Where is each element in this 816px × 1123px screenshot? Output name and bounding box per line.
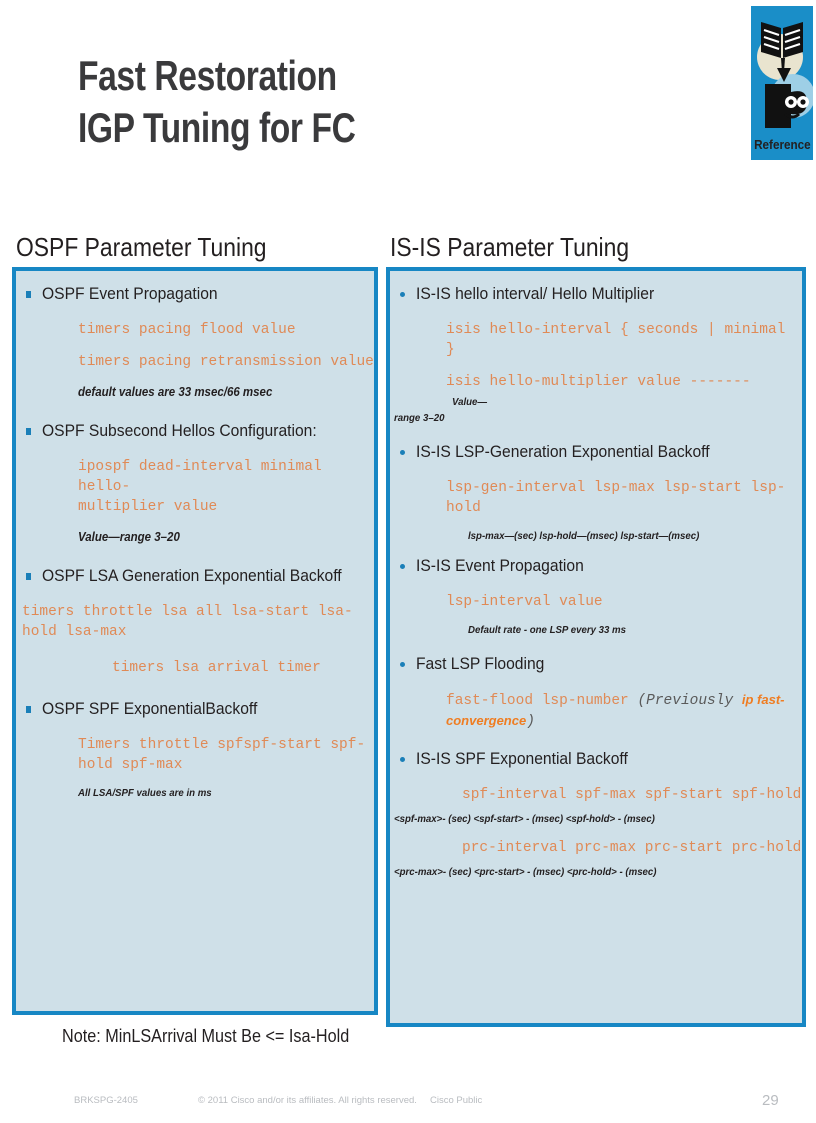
dot-bullet-icon — [400, 292, 405, 297]
title-line-2: IGP Tuning for FC — [78, 102, 574, 154]
code-line: hold lsa-max — [22, 622, 374, 642]
code-line: timers pacing retransmission value — [78, 352, 374, 372]
list-item: OSPF LSA Generation Exponential Backoff — [26, 565, 374, 586]
code-text: fast-flood lsp-number — [446, 693, 637, 709]
code-line: hold — [446, 498, 802, 518]
dot-bullet-icon — [400, 564, 405, 569]
code-line: lsp-gen-interval lsp-max lsp-start lsp- — [446, 478, 802, 498]
code-line: multiplier value — [78, 497, 374, 517]
list-item: OSPF Event Propagation — [26, 283, 374, 304]
code-line: lsp-interval value — [446, 592, 802, 612]
closing-paren: ) — [526, 714, 535, 730]
dot-bullet-icon — [400, 757, 405, 762]
session-code: BRKSPG-2405 — [74, 1095, 138, 1106]
annotation-note: Value—range 3–20 — [78, 529, 350, 545]
section-title: IS-IS SPF Exponential Backoff — [416, 748, 628, 769]
section-title: OSPF Subsecond Hellos Configuration: — [42, 420, 317, 441]
annotation-note: range 3–20 — [394, 412, 769, 425]
list-item: OSPF SPF ExponentialBackoff — [26, 698, 374, 719]
ospf-column-heading: OSPF Parameter Tuning — [16, 232, 267, 263]
section-title: OSPF LSA Generation Exponential Backoff — [42, 565, 342, 586]
code-line: timers pacing flood value — [78, 320, 374, 340]
code-line-fast-flood: fast-flood lsp-number (Previously ip fas… — [446, 690, 802, 732]
annotation-note: lsp-max—(sec) lsp-hold—(msec) lsp-start—… — [468, 530, 775, 543]
section-title: IS-IS hello interval/ Hello Multiplier — [416, 283, 654, 304]
list-item: IS-IS SPF Exponential Backoff — [400, 748, 802, 769]
title-line-1: Fast Restoration — [78, 50, 574, 102]
code-line-with-inline-note: isis hello-multiplier value ------- Valu… — [446, 372, 802, 412]
inline-annotation: Value— — [452, 396, 487, 409]
copyright-text: © 2011 Cisco and/or its affiliates. All … — [198, 1095, 417, 1106]
code-line: timers lsa arrival timer — [112, 658, 374, 678]
square-bullet-icon — [26, 573, 31, 580]
reference-badge: Reference — [749, 4, 815, 162]
classification-label: Cisco Public — [430, 1095, 482, 1106]
section-title: OSPF Event Propagation — [42, 283, 218, 304]
annotation-note: All LSA/SPF values are in ms — [78, 787, 350, 800]
slide-footer: BRKSPG-2405 © 2011 Cisco and/or its affi… — [0, 1092, 816, 1114]
list-item: IS-IS Event Propagation — [400, 555, 802, 576]
previously-text: (Previously — [637, 693, 741, 709]
list-item: IS-IS LSP-Generation Exponential Backoff — [400, 441, 802, 462]
isis-parameter-box: IS-IS hello interval/ Hello Multiplier i… — [386, 267, 806, 1027]
list-item: OSPF Subsecond Hellos Configuration: — [26, 420, 374, 441]
min-lsarrival-note: Note: MinLSArrival Must Be <= Isa-Hold — [62, 1026, 349, 1047]
code-line: hold spf-max — [78, 755, 374, 775]
page-title: Fast Restoration IGP Tuning for FC — [78, 50, 698, 154]
annotation-note: default values are 33 msec/66 msec — [78, 384, 350, 400]
page-number: 29 — [762, 1092, 779, 1109]
section-title: Fast LSP Flooding — [416, 653, 544, 674]
reference-badge-label: Reference — [754, 137, 810, 152]
list-item: IS-IS hello interval/ Hello Multiplier — [400, 283, 802, 304]
annotation-note-prc: <prc-max>- (sec) <prc-start> - (msec) <p… — [394, 866, 769, 879]
annotation-note-spf: <spf-max>- (sec) <spf-start> - (msec) <s… — [394, 813, 769, 826]
dot-bullet-icon — [400, 662, 405, 667]
section-title: IS-IS LSP-Generation Exponential Backoff — [416, 441, 710, 462]
list-item: Fast LSP Flooding — [400, 653, 802, 674]
section-title: OSPF SPF ExponentialBackoff — [42, 698, 257, 719]
code-line: Timers throttle spfspf-start spf- — [78, 735, 374, 755]
isis-column-heading: IS-IS Parameter Tuning — [390, 232, 629, 263]
section-title: IS-IS Event Propagation — [416, 555, 584, 576]
code-line: prc-interval prc-max prc-start prc-hold — [462, 838, 802, 858]
ospf-parameter-box: OSPF Event Propagation timers pacing flo… — [12, 267, 378, 1015]
code-line: isis hello-interval { seconds | minimal … — [446, 320, 802, 360]
code-line: timers throttle lsa all lsa-start lsa- — [22, 602, 374, 622]
square-bullet-icon — [26, 291, 31, 298]
annotation-note: Default rate - one LSP every 33 ms — [468, 624, 775, 637]
dot-bullet-icon — [400, 450, 405, 455]
square-bullet-icon — [26, 428, 31, 435]
code-line: spf-interval spf-max spf-start spf-hold — [462, 785, 802, 805]
code-text: isis hello-multiplier value ------- — [446, 374, 751, 390]
code-line: ipospf dead-interval minimal hello- — [78, 457, 374, 497]
square-bullet-icon — [26, 706, 31, 713]
